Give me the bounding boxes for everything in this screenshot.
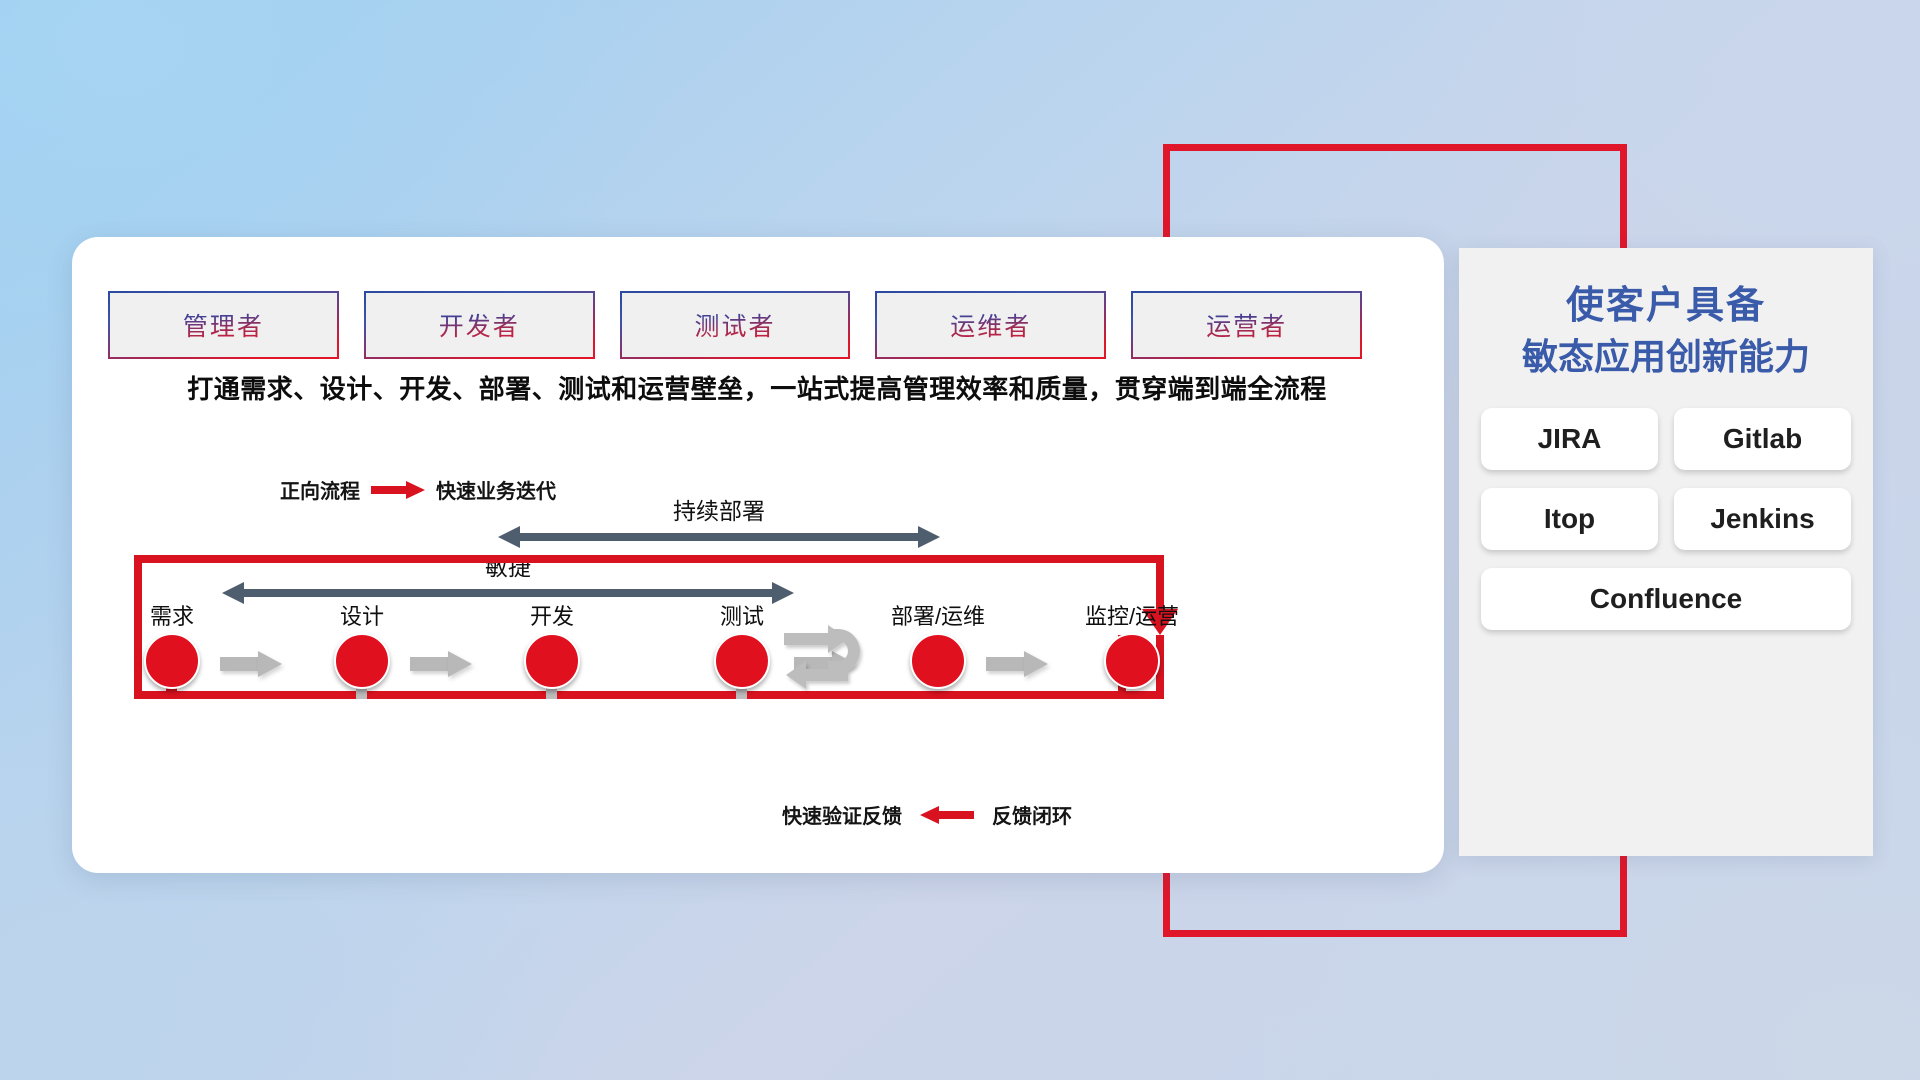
arrow-bar bbox=[518, 533, 920, 541]
arrow-right-red-icon bbox=[371, 481, 425, 499]
arrow-bar bbox=[242, 589, 774, 597]
arrow-head bbox=[258, 651, 282, 677]
role-label: 开发者 bbox=[439, 307, 520, 343]
tool-tag-gitlab[interactable]: Gitlab bbox=[1674, 408, 1851, 470]
arrow-head-right-icon bbox=[772, 582, 794, 604]
roles-row: 管理者 开发者 测试者 运维者 运营者 bbox=[110, 293, 1360, 357]
tool-tag-jira[interactable]: JIRA bbox=[1481, 408, 1658, 470]
stage-circle bbox=[714, 633, 770, 689]
stage-label: 部署/运维 bbox=[891, 599, 985, 631]
span-arrow-label: 持续部署 bbox=[498, 492, 940, 526]
arrow-right-gray-icon-1 bbox=[220, 651, 282, 677]
arrow-right-gray-icon-2 bbox=[410, 651, 472, 677]
legend-forward-left-label: 正向流程 bbox=[280, 475, 360, 504]
role-box-ops[interactable]: 运维者 bbox=[877, 293, 1104, 357]
stage-circle bbox=[910, 633, 966, 689]
arrow-left-red-icon bbox=[920, 806, 974, 824]
sidebar-title: 使客户具备 敏态应用创新能力 bbox=[1481, 280, 1851, 382]
sidebar-panel: 使客户具备 敏态应用创新能力 JIRA Gitlab Itop Jenkins … bbox=[1459, 248, 1873, 856]
arrow-head-right-icon bbox=[918, 526, 940, 548]
role-box-operations[interactable]: 运营者 bbox=[1133, 293, 1360, 357]
arrow-head-left-icon bbox=[222, 582, 244, 604]
tool-tag-itop[interactable]: Itop bbox=[1481, 488, 1658, 550]
stage-circle bbox=[524, 633, 580, 689]
feedback-loop-top-rail bbox=[134, 555, 1164, 563]
role-label: 运营者 bbox=[1206, 307, 1287, 343]
stage-circle bbox=[144, 633, 200, 689]
role-box-developer[interactable]: 开发者 bbox=[366, 293, 593, 357]
tool-tag-jenkins[interactable]: Jenkins bbox=[1674, 488, 1851, 550]
role-label: 管理者 bbox=[183, 307, 264, 343]
arrow-right-gray-icon-4 bbox=[986, 651, 1048, 677]
stage-label: 开发 bbox=[530, 599, 574, 631]
sidebar-title-line1: 使客户具备 bbox=[1481, 280, 1851, 332]
stage-label: 需求 bbox=[150, 599, 194, 631]
stage-label: 测试 bbox=[720, 599, 764, 631]
role-box-tester[interactable]: 测试者 bbox=[622, 293, 849, 357]
arrow-head bbox=[448, 651, 472, 677]
loop-back-gray-icon bbox=[784, 625, 876, 699]
arrow-head-left-icon bbox=[498, 526, 520, 548]
sidebar-title-line2: 敏态应用创新能力 bbox=[1481, 332, 1851, 382]
tool-tag-confluence[interactable]: Confluence bbox=[1481, 568, 1851, 630]
tool-tag-grid: JIRA Gitlab Itop Jenkins Confluence bbox=[1481, 408, 1851, 630]
description-text: 打通需求、设计、开发、部署、测试和运营壁垒，一站式提高管理效率和质量，贯穿端到端… bbox=[112, 369, 1402, 406]
legend-feedback-right-label: 反馈闭环 bbox=[992, 800, 1072, 829]
role-label: 运维者 bbox=[950, 307, 1031, 343]
pipeline: 需求 设计 开发 测试 部署/运维 bbox=[110, 605, 1200, 735]
main-card: 管理者 开发者 测试者 运维者 运营者 打通需求、设计、开发、部署、测试和运营壁… bbox=[72, 237, 1444, 873]
arrow-bar bbox=[986, 657, 1026, 671]
legend-feedback-loop: 快速验证反馈 反馈闭环 bbox=[782, 800, 1072, 829]
legend-feedback-left-label: 快速验证反馈 bbox=[782, 800, 902, 829]
arrow-bar bbox=[220, 657, 260, 671]
span-arrow-label: 敏捷 bbox=[222, 548, 794, 582]
role-label: 测试者 bbox=[694, 307, 775, 343]
stage-circle bbox=[334, 633, 390, 689]
span-arrow-agile: 敏捷 bbox=[222, 582, 794, 604]
stage-label: 设计 bbox=[340, 599, 384, 631]
span-arrow-continuous-deployment: 持续部署 bbox=[498, 526, 940, 548]
role-box-manager[interactable]: 管理者 bbox=[110, 293, 337, 357]
stage-label: 监控/运营 bbox=[1085, 599, 1179, 631]
arrow-head bbox=[1024, 651, 1048, 677]
stage-circle bbox=[1104, 633, 1160, 689]
arrow-bar bbox=[410, 657, 450, 671]
